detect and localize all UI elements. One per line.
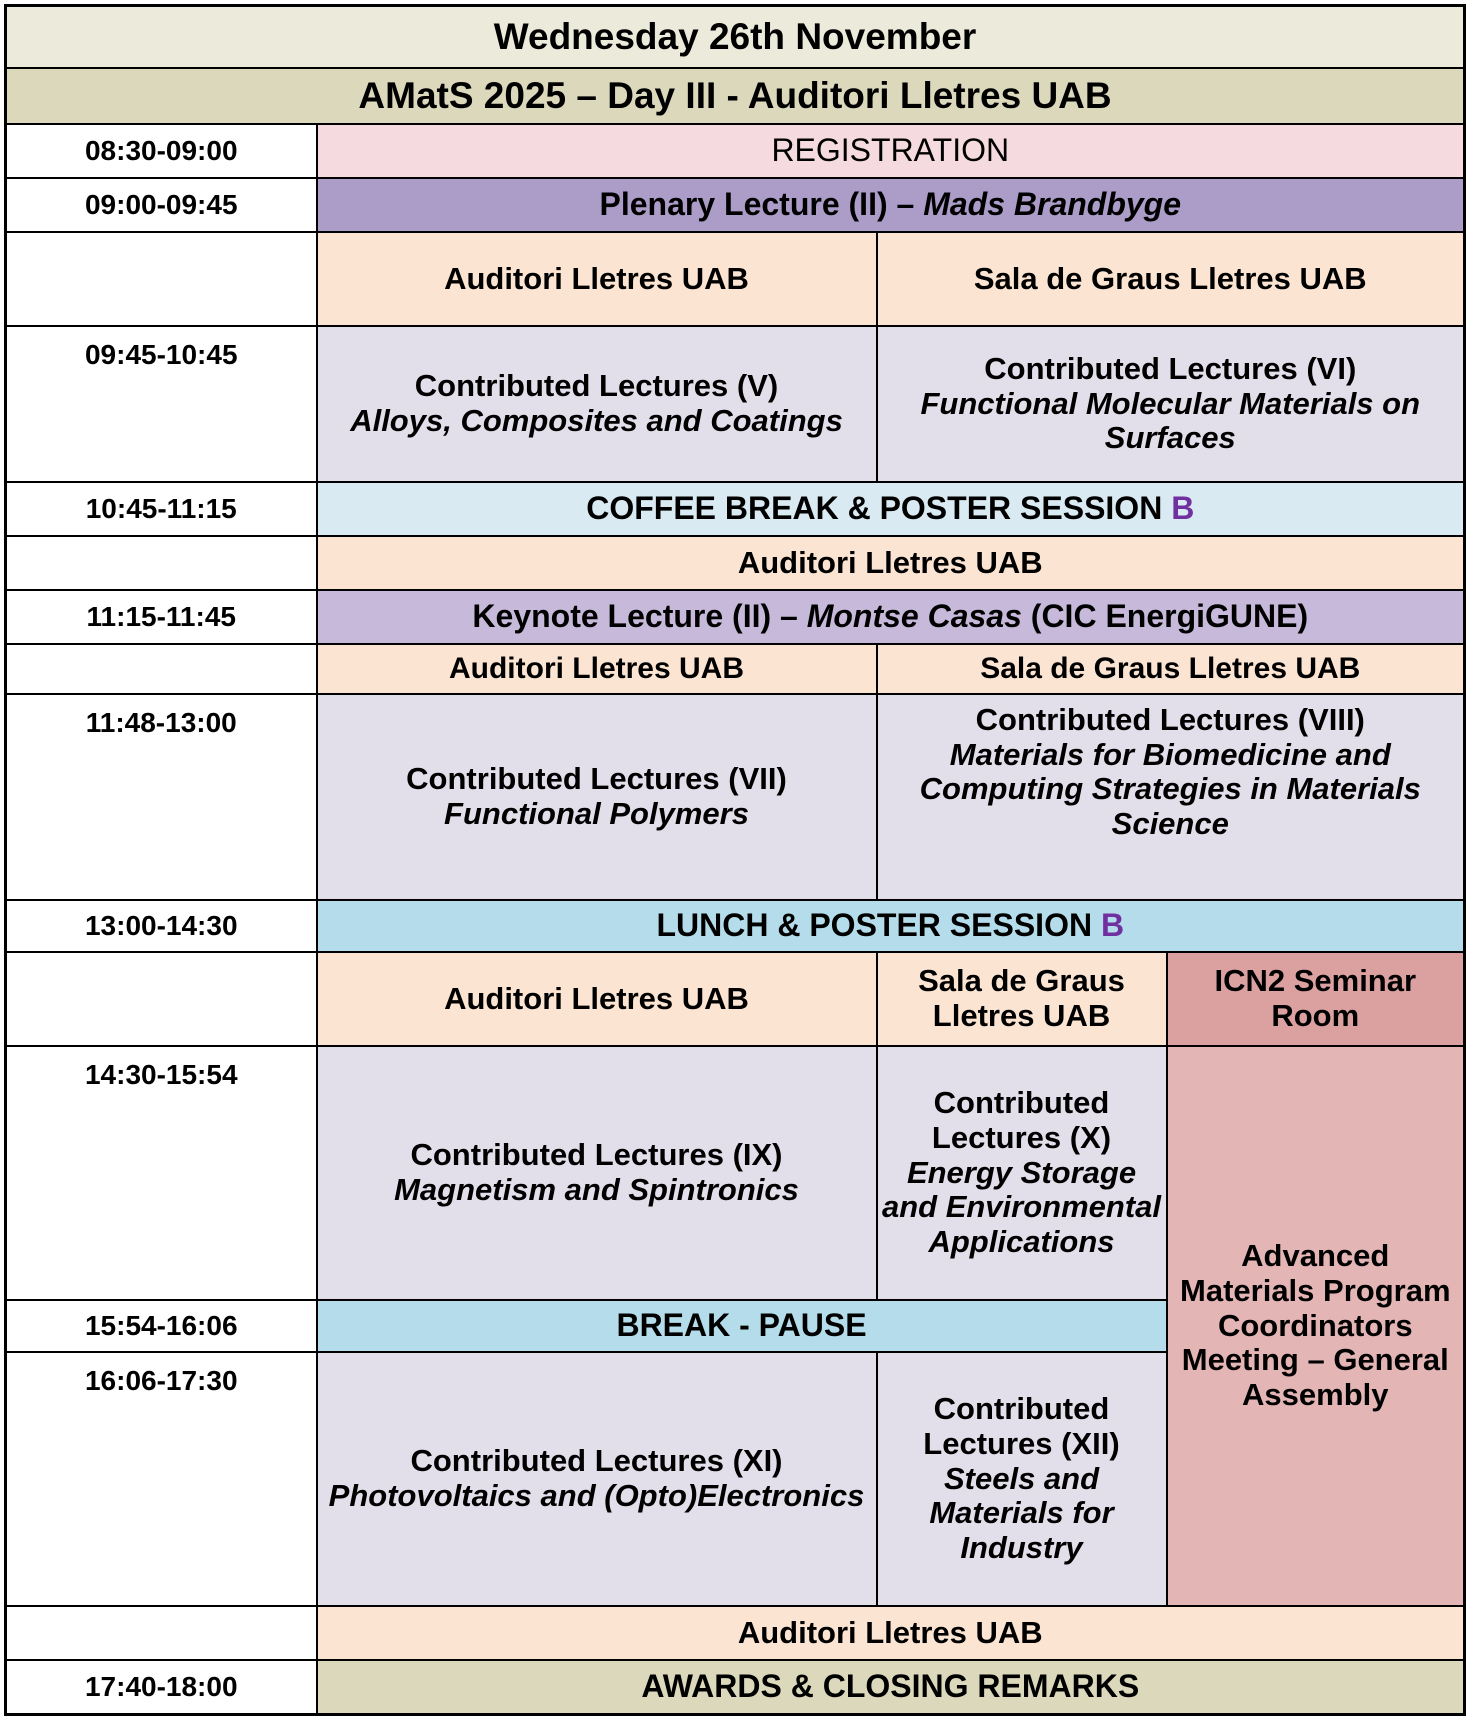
time-slot-lunch: 13:00-14:30 [6, 900, 317, 952]
time-slot-empty-5 [6, 1606, 317, 1660]
time-slot-lectures-ix-x: 14:30-15:54 [6, 1046, 317, 1300]
table-row-venue-5: Auditori Lletres UAB [6, 1606, 1465, 1660]
table-row-plenary: 09:00-09:45 Plenary Lecture (II) – Mads … [6, 178, 1465, 232]
lecture-topic-xii: Steels and Materials for Industry [882, 1462, 1162, 1566]
page-subtitle: AMatS 2025 – Day III - Auditori Lletres … [6, 68, 1465, 124]
time-slot-registration: 08:30-09:00 [6, 124, 317, 178]
session-contributed-lectures-vii: Contributed Lectures (VII) Functional Po… [317, 694, 877, 900]
plenary-prefix: Plenary Lecture (II) – [600, 186, 924, 222]
lecture-title-x: Contributed Lectures (X) [882, 1086, 1162, 1155]
table-row-venue-2: Auditori Lletres UAB [6, 536, 1465, 590]
session-lunch: LUNCH & POSTER SESSION B [317, 900, 1465, 952]
table-row-lectures-vii-viii: 11:48-13:00 Contributed Lectures (VII) F… [6, 694, 1465, 900]
session-break-pause: BREAK - PAUSE [317, 1300, 1167, 1352]
keynote-speaker: Montse Casas [807, 598, 1022, 634]
venue-auditori-3: Auditori Lletres UAB [317, 644, 877, 694]
session-contributed-lectures-xi: Contributed Lectures (XI) Photovoltaics … [317, 1352, 877, 1606]
table-row-lectures-v-vi: 09:45-10:45 Contributed Lectures (V) All… [6, 326, 1465, 482]
table-row-coffee-break: 10:45-11:15 COFFEE BREAK & POSTER SESSIO… [6, 482, 1465, 536]
page-title: Wednesday 26th November [6, 6, 1465, 69]
lecture-title-vi: Contributed Lectures (VI) [882, 352, 1460, 387]
lecture-topic-x: Energy Storage and Environmental Applica… [882, 1156, 1162, 1260]
session-contributed-lectures-vi: Contributed Lectures (VI) Functional Mol… [877, 326, 1465, 482]
venue-auditori-1: Auditori Lletres UAB [317, 232, 877, 326]
lunch-label: LUNCH & POSTER SESSION [656, 907, 1101, 943]
session-plenary-lecture: Plenary Lecture (II) – Mads Brandbyge [317, 178, 1465, 232]
time-slot-empty-4 [6, 952, 317, 1046]
table-row-lectures-ix-x: 14:30-15:54 Contributed Lectures (IX) Ma… [6, 1046, 1465, 1300]
time-slot-break: 15:54-16:06 [6, 1300, 317, 1352]
venue-icn2-seminar-room: ICN2 Seminar Room [1167, 952, 1465, 1046]
session-coffee-break: COFFEE BREAK & POSTER SESSION B [317, 482, 1465, 536]
lecture-topic-ix: Magnetism and Spintronics [322, 1173, 872, 1208]
time-slot-empty-3 [6, 644, 317, 694]
lecture-topic-vii: Functional Polymers [322, 797, 872, 832]
keynote-affiliation: (CIC EnergiGUNE) [1022, 598, 1308, 634]
session-icn2-coordinators-meeting: Advanced Materials Program Coordinators … [1167, 1046, 1465, 1606]
time-slot-lectures-vii-viii: 11:48-13:00 [6, 694, 317, 900]
venue-auditori-4: Auditori Lletres UAB [317, 952, 877, 1046]
time-slot-lectures-v-vi: 09:45-10:45 [6, 326, 317, 482]
session-keynote-lecture: Keynote Lecture (II) – Montse Casas (CIC… [317, 590, 1465, 644]
plenary-speaker: Mads Brandbyge [923, 186, 1181, 222]
table-row-awards: 17:40-18:00 AWARDS & CLOSING REMARKS [6, 1660, 1465, 1715]
lecture-title-v: Contributed Lectures (V) [322, 369, 872, 404]
session-contributed-lectures-x: Contributed Lectures (X) Energy Storage … [877, 1046, 1167, 1300]
time-slot-empty-1 [6, 232, 317, 326]
table-row-lunch: 13:00-14:30 LUNCH & POSTER SESSION B [6, 900, 1465, 952]
lecture-topic-vi: Functional Molecular Materials on Surfac… [882, 387, 1460, 456]
venue-auditori-5: Auditori Lletres UAB [317, 1606, 1465, 1660]
session-contributed-lectures-v: Contributed Lectures (V) Alloys, Composi… [317, 326, 877, 482]
lecture-topic-viii: Materials for Biomedicine and Computing … [882, 738, 1460, 842]
lecture-title-ix: Contributed Lectures (IX) [322, 1138, 872, 1173]
poster-session-letter-b: B [1171, 490, 1194, 526]
table-row-registration: 08:30-09:00 REGISTRATION [6, 124, 1465, 178]
session-contributed-lectures-viii: Contributed Lectures (VIII) Materials fo… [877, 694, 1465, 900]
session-registration: REGISTRATION [317, 124, 1465, 178]
time-slot-lectures-xi-xii: 16:06-17:30 [6, 1352, 317, 1606]
lecture-title-xi: Contributed Lectures (XI) [322, 1444, 872, 1479]
keynote-prefix: Keynote Lecture (II) – [472, 598, 806, 634]
lecture-title-viii: Contributed Lectures (VIII) [882, 703, 1460, 738]
lunch-poster-session-letter-b: B [1101, 907, 1124, 943]
time-slot-plenary: 09:00-09:45 [6, 178, 317, 232]
lecture-topic-xi: Photovoltaics and (Opto)Electronics [322, 1479, 872, 1514]
table-row-venue-1: Auditori Lletres UAB Sala de Graus Lletr… [6, 232, 1465, 326]
table-row-venue-3: Auditori Lletres UAB Sala de Graus Lletr… [6, 644, 1465, 694]
time-slot-awards: 17:40-18:00 [6, 1660, 317, 1715]
time-slot-coffee-break: 10:45-11:15 [6, 482, 317, 536]
session-awards-closing: AWARDS & CLOSING REMARKS [317, 1660, 1465, 1715]
session-contributed-lectures-xii: Contributed Lectures (XII) Steels and Ma… [877, 1352, 1167, 1606]
lecture-topic-v: Alloys, Composites and Coatings [322, 404, 872, 439]
table-row-day-title: Wednesday 26th November [6, 6, 1465, 69]
table-row-keynote: 11:15-11:45 Keynote Lecture (II) – Monts… [6, 590, 1465, 644]
venue-sala-graus-3: Sala de Graus Lletres UAB [877, 644, 1465, 694]
lecture-title-xii: Contributed Lectures (XII) [882, 1392, 1162, 1461]
table-row-subtitle: AMatS 2025 – Day III - Auditori Lletres … [6, 68, 1465, 124]
conference-schedule-table: Wednesday 26th November AMatS 2025 – Day… [4, 4, 1466, 1716]
venue-auditori-2: Auditori Lletres UAB [317, 536, 1465, 590]
schedule-sheet: Wednesday 26th November AMatS 2025 – Day… [0, 0, 1467, 1621]
session-contributed-lectures-ix: Contributed Lectures (IX) Magnetism and … [317, 1046, 877, 1300]
venue-sala-graus-1: Sala de Graus Lletres UAB [877, 232, 1465, 326]
time-slot-empty-2 [6, 536, 317, 590]
venue-sala-graus-4: Sala de Graus Lletres UAB [877, 952, 1167, 1046]
time-slot-keynote: 11:15-11:45 [6, 590, 317, 644]
coffee-break-label: COFFEE BREAK & POSTER SESSION [586, 490, 1171, 526]
lecture-title-vii: Contributed Lectures (VII) [322, 762, 872, 797]
table-row-venue-4: Auditori Lletres UAB Sala de Graus Lletr… [6, 952, 1465, 1046]
